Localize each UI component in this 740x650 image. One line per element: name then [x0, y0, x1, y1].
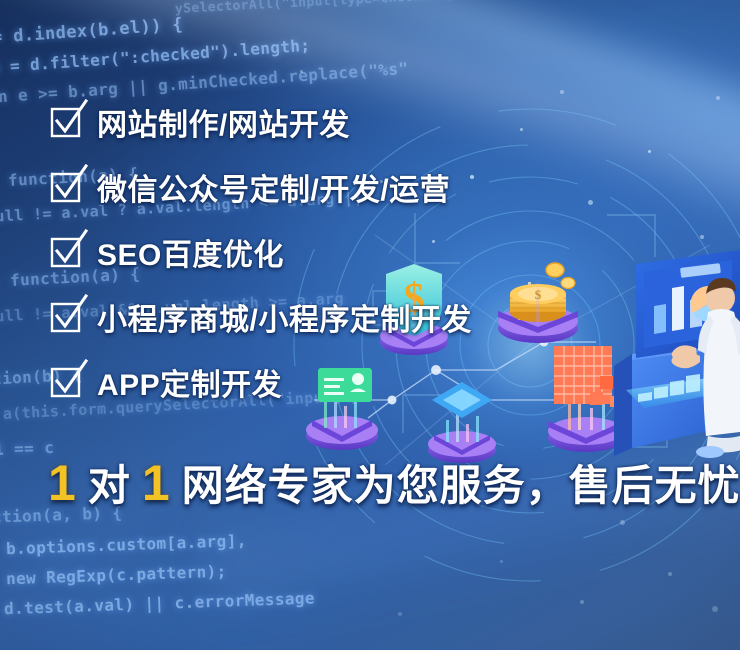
list-item[interactable]: APP定制开发 [52, 358, 692, 406]
headline-mid: 对 [88, 452, 131, 513]
list-item[interactable]: 微信公众号定制/开发/运营 [52, 163, 692, 211]
headline: 1 对 1 网络专家为您服务，售后无忧！ [48, 452, 740, 513]
list-item-label: 小程序商城/小程序定制开发 [97, 295, 472, 339]
list-item[interactable]: 网站制作/网站开发 [52, 98, 692, 146]
code-line: = new RegExp(c.pattern); [0, 562, 227, 589]
headline-number-first: 1 [48, 454, 77, 512]
code-line: = d.index(b.el)) { [0, 15, 184, 48]
code-line: 1 == c [0, 438, 54, 459]
checkbox-checked-icon [52, 304, 79, 331]
checkbox-checked-icon [52, 369, 79, 396]
checkbox-checked-icon [52, 109, 79, 136]
promo-banner: ySelectorAll("input[type=checkbox]") = d… [0, 0, 740, 650]
list-item-label: SEO百度优化 [97, 230, 284, 274]
headline-tail: 网络专家为您服务，售后无忧！ [182, 452, 740, 513]
service-checklist: 网站制作/网站开发 微信公众号定制/开发/运营 SEO百度优化 [52, 98, 692, 423]
checkbox-checked-icon [52, 239, 79, 266]
list-item-label: 微信公众号定制/开发/运营 [97, 165, 450, 209]
code-line: n d.test(a.val) || c.errorMessage [0, 588, 315, 619]
headline-number-second: 1 [142, 454, 171, 512]
list-item-label: 网站制作/网站开发 [97, 100, 350, 144]
list-item-label: APP定制开发 [97, 360, 282, 404]
code-line: = b.options.custom[a.arg], [0, 531, 247, 559]
checkbox-checked-icon [52, 174, 79, 201]
list-item[interactable]: SEO百度优化 [52, 228, 692, 276]
code-line: ySelectorAll("input[type=checkbox]") [175, 0, 472, 17]
list-item[interactable]: 小程序商城/小程序定制开发 [52, 293, 692, 341]
